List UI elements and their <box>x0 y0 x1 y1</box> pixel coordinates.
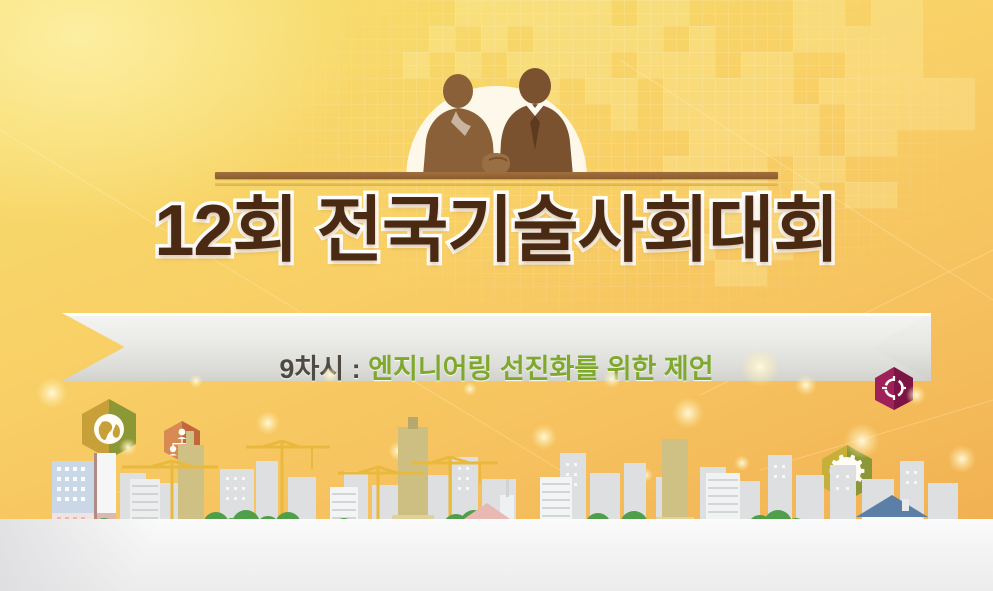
subtitle-text: 9차시 : 엔지니어링 선진화를 위한 제언 <box>62 347 931 386</box>
subtitle-main: 엔지니어링 선진화를 위한 제언 <box>368 354 713 384</box>
subtitle-prefix: 9차시 : <box>279 354 360 384</box>
handshake-emblem <box>373 64 620 182</box>
page-title: 12회 전국기술사회대회 <box>0 195 993 267</box>
divider-rule-thin <box>215 183 778 186</box>
ground-plane <box>0 519 993 591</box>
ground-shadow <box>0 519 230 591</box>
ribbon-highlight <box>62 313 931 316</box>
divider-rule-main <box>215 172 778 179</box>
presentation-slide: 12회 전국기술사회대회 9차시 : 엔지니어링 선진화를 위한 제언 <box>0 0 993 591</box>
badge-target <box>873 366 915 411</box>
